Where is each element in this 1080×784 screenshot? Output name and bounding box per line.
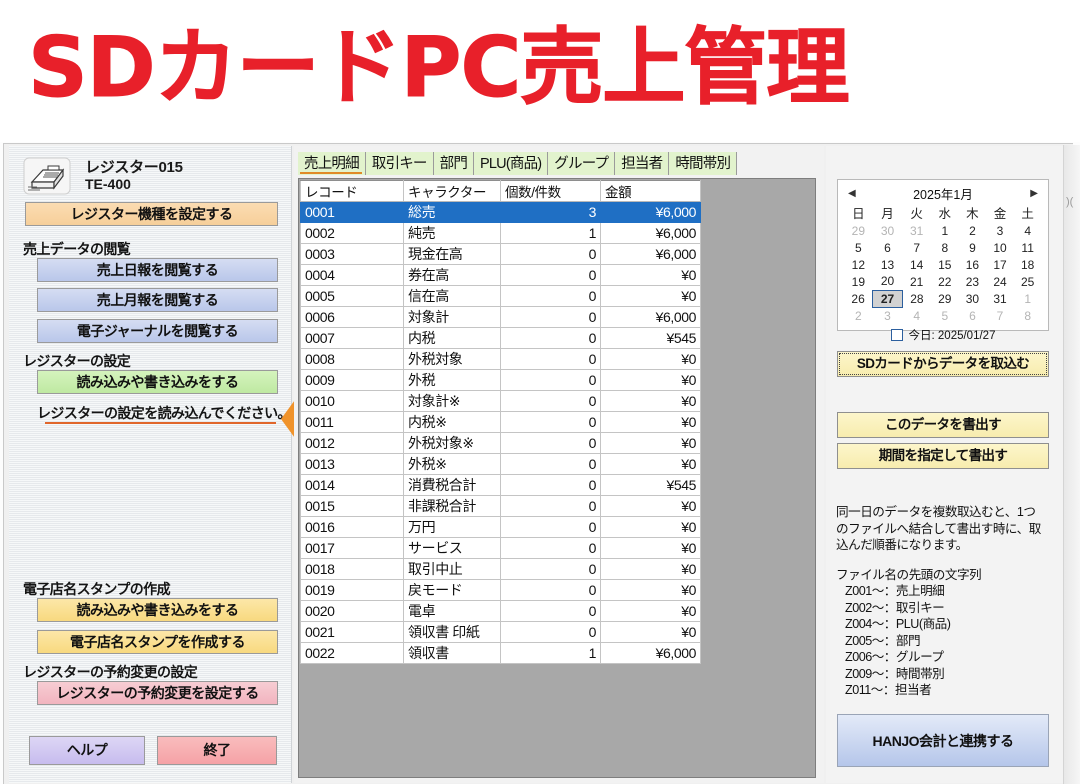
stamp-read-write-button[interactable]: 読み込みや書き込みをする — [37, 598, 278, 622]
calendar-day[interactable]: 18 — [1014, 256, 1042, 273]
calendar-day[interactable]: 22 — [931, 273, 959, 290]
calendar-day[interactable]: 8 — [931, 239, 959, 256]
cash-register-icon — [23, 157, 71, 195]
table-row[interactable]: 0021領収書 印紙0¥0 — [301, 622, 701, 643]
calendar-day[interactable]: 8 — [1014, 307, 1042, 324]
calendar-weekday: 日 — [844, 203, 873, 222]
cell-amount: ¥0 — [601, 265, 701, 286]
calendar-day[interactable]: 7 — [902, 239, 931, 256]
hanjo-link-button[interactable]: HANJO会計と連携する — [837, 714, 1049, 767]
cell-record: 0020 — [301, 601, 404, 622]
cell-character: 非課税合計 — [404, 496, 501, 517]
calendar-day[interactable]: 10 — [986, 239, 1014, 256]
calendar-day[interactable]: 3 — [873, 307, 903, 324]
column-header-record[interactable]: レコード — [301, 181, 404, 202]
cell-count: 0 — [501, 244, 601, 265]
cell-count: 0 — [501, 286, 601, 307]
cell-character: 領収書 印紙 — [404, 622, 501, 643]
tabstrip: 売上明細取引キー部門PLU(商品)グループ担当者時間帯別 — [298, 152, 818, 175]
cell-amount: ¥0 — [601, 391, 701, 412]
cell-amount: ¥0 — [601, 454, 701, 475]
application-root: SDカードPC売上管理 レジスター015 TE-400 レジスター機種を設定する — [0, 0, 1080, 784]
hanjo-link-label: HANJO会計と連携する — [872, 731, 1013, 751]
calendar-day[interactable]: 30 — [873, 222, 903, 239]
table-row[interactable]: 0022領収書1¥6,000 — [301, 643, 701, 664]
calendar-weekday-row: 日月火水木金土 — [844, 203, 1042, 222]
calendar-day[interactable]: 5 — [931, 307, 959, 324]
table-row[interactable]: 0018取引中止0¥0 — [301, 559, 701, 580]
cell-record: 0018 — [301, 559, 404, 580]
cell-record: 0009 — [301, 370, 404, 391]
section-label-reservation: レジスターの予約変更の設定 — [23, 662, 197, 682]
main-panel: 売上明細取引キー部門PLU(商品)グループ担当者時間帯別 レコード キャラクター… — [294, 146, 824, 783]
cell-character: 外税 — [404, 370, 501, 391]
cell-record: 0022 — [301, 643, 404, 664]
cell-amount: ¥545 — [601, 328, 701, 349]
cell-amount: ¥6,000 — [601, 643, 701, 664]
cell-record: 0012 — [301, 433, 404, 454]
cell-count: 0 — [501, 622, 601, 643]
cell-count: 1 — [501, 223, 601, 244]
table-row[interactable]: 0011内税※0¥0 — [301, 412, 701, 433]
calendar-day[interactable]: 26 — [844, 290, 873, 307]
cell-character: 外税※ — [404, 454, 501, 475]
table-row[interactable]: 0012外税対象※0¥0 — [301, 433, 701, 454]
section-label-store-stamp: 電子店名スタンプの作成 — [23, 579, 170, 599]
table-row[interactable]: 0014消費税合計0¥545 — [301, 475, 701, 496]
cell-amount: ¥0 — [601, 370, 701, 391]
calendar-week-row: 19202122232425 — [844, 273, 1042, 290]
tab-0[interactable]: 売上明細 — [298, 152, 366, 175]
cell-count: 0 — [501, 412, 601, 433]
prefix-list: Z001～：売上明細Z002～：取引キーZ004～：PLU(商品)Z005～：部… — [836, 583, 1066, 699]
column-header-character[interactable]: キャラクター — [404, 181, 501, 202]
create-store-stamp-button[interactable]: 電子店名スタンプを作成する — [37, 630, 278, 654]
calendar-day[interactable]: 7 — [986, 307, 1014, 324]
calendar-day[interactable]: 19 — [844, 273, 873, 290]
table-row[interactable]: 0009外税0¥0 — [301, 370, 701, 391]
calendar-week-row: 2345678 — [844, 307, 1042, 324]
calendar-day[interactable]: 15 — [931, 256, 959, 273]
cell-record: 0017 — [301, 538, 404, 559]
cell-count: 0 — [501, 328, 601, 349]
cell-amount: ¥0 — [601, 517, 701, 538]
import-from-sd-card-button[interactable]: SDカードからデータを取込む — [837, 351, 1049, 377]
calendar-day[interactable]: 5 — [844, 239, 873, 256]
cell-record: 0004 — [301, 265, 404, 286]
table-row[interactable]: 0019戻モード0¥0 — [301, 580, 701, 601]
calendar-weekday: 月 — [873, 203, 903, 222]
tab-3[interactable]: PLU(商品) — [474, 152, 548, 175]
cell-amount: ¥6,000 — [601, 244, 701, 265]
tab-1[interactable]: 取引キー — [366, 152, 434, 175]
calendar-today-row[interactable]: 今日: 2025/01/27 — [844, 327, 1042, 343]
calendar-weekday: 火 — [902, 203, 931, 222]
cell-count: 0 — [501, 454, 601, 475]
tab-6[interactable]: 時間帯別 — [669, 152, 737, 175]
cell-record: 0001 — [301, 202, 404, 223]
calendar-day[interactable]: 28 — [902, 290, 931, 307]
calendar-day[interactable]: 31 — [986, 290, 1014, 307]
calendar-day[interactable]: 17 — [986, 256, 1014, 273]
cell-record: 0021 — [301, 622, 404, 643]
calendar-week-row: 2930311234 — [844, 222, 1042, 239]
table-row[interactable]: 0002純売1¥6,000 — [301, 223, 701, 244]
calendar-day[interactable]: 23 — [959, 273, 987, 290]
calendar-day[interactable]: 4 — [1014, 222, 1042, 239]
cell-amount: ¥0 — [601, 286, 701, 307]
app-window: レジスター015 TE-400 レジスター機種を設定する 売上データの閲覧 売上… — [3, 143, 1073, 784]
cell-count: 0 — [501, 496, 601, 517]
cell-record: 0006 — [301, 307, 404, 328]
cell-amount: ¥6,000 — [601, 202, 701, 223]
title-banner: SDカードPC売上管理 — [0, 0, 1080, 142]
cell-amount: ¥0 — [601, 601, 701, 622]
table-row[interactable]: 0005信在高0¥0 — [301, 286, 701, 307]
cell-character: 内税 — [404, 328, 501, 349]
export-by-period-button[interactable]: 期間を指定して書出す — [837, 443, 1049, 469]
calendar-weekday: 土 — [1014, 203, 1042, 222]
cell-amount: ¥0 — [601, 559, 701, 580]
section-label-register-settings: レジスターの設定 — [23, 351, 130, 371]
cell-count: 0 — [501, 391, 601, 412]
cell-count: 0 — [501, 475, 601, 496]
set-register-model-button[interactable]: レジスター機種を設定する — [25, 202, 278, 226]
table-row[interactable]: 0004券在高0¥0 — [301, 265, 701, 286]
calendar-day[interactable]: 1 — [931, 222, 959, 239]
prefix-item: Z004～：PLU(商品) — [836, 616, 1066, 633]
calendar-weekday-header: 日月火水木金土 — [844, 203, 1042, 222]
calendar-grid: 日月火水木金土 29303112345678910111213141516171… — [844, 203, 1042, 324]
cell-record: 0010 — [301, 391, 404, 412]
table-body: 0001総売3¥6,0000002純売1¥6,0000003現金在高0¥6,00… — [301, 202, 701, 664]
calendar-week-row: 12131415161718 — [844, 256, 1042, 273]
table-row[interactable]: 0015非課税合計0¥0 — [301, 496, 701, 517]
cell-count: 0 — [501, 307, 601, 328]
calendar-weekday: 木 — [959, 203, 987, 222]
cell-character: 消費税合計 — [404, 475, 501, 496]
section-label-sales-browse: 売上データの閲覧 — [23, 239, 130, 259]
cell-amount: ¥0 — [601, 538, 701, 559]
cell-character: 外税対象※ — [404, 433, 501, 454]
cell-record: 0007 — [301, 328, 404, 349]
cell-character: 券在高 — [404, 265, 501, 286]
edge-partial-glyph: )( — [1066, 196, 1073, 208]
exit-button[interactable]: 終了 — [157, 736, 277, 765]
calendar-day[interactable]: 4 — [902, 307, 931, 324]
cell-character: 万円 — [404, 517, 501, 538]
table-header: レコード キャラクター 個数/件数 金額 — [301, 181, 701, 202]
calendar-day[interactable]: 21 — [902, 273, 931, 290]
cell-amount: ¥0 — [601, 349, 701, 370]
prefix-heading: ファイル名の先頭の文字列 — [836, 567, 1066, 584]
calendar-day[interactable]: 3 — [986, 222, 1014, 239]
cell-count: 0 — [501, 559, 601, 580]
cell-character: 現金在高 — [404, 244, 501, 265]
tab-2[interactable]: 部門 — [434, 152, 474, 175]
cell-count: 0 — [501, 265, 601, 286]
cell-character: 外税対象 — [404, 349, 501, 370]
cell-count: 0 — [501, 433, 601, 454]
calendar-week-row: 567891011 — [844, 239, 1042, 256]
cell-record: 0019 — [301, 580, 404, 601]
sales-detail-table: レコード キャラクター 個数/件数 金額 0001総売3¥6,0000002純売… — [300, 180, 701, 664]
cell-record: 0013 — [301, 454, 404, 475]
prefix-item: Z005～：部門 — [836, 633, 1066, 650]
calendar-prev-month-icon[interactable]: ◀ — [844, 188, 860, 199]
help-button[interactable]: ヘルプ — [29, 736, 145, 765]
cell-character: 対象計 — [404, 307, 501, 328]
calendar-day[interactable]: 2 — [844, 307, 873, 324]
calendar-day[interactable]: 9 — [959, 239, 987, 256]
cell-character: 内税※ — [404, 412, 501, 433]
cell-amount: ¥0 — [601, 412, 701, 433]
calendar-day[interactable]: 31 — [902, 222, 931, 239]
view-electronic-journal-button[interactable]: 電子ジャーナルを閲覧する — [37, 319, 278, 343]
register-name: レジスター015 — [85, 156, 183, 177]
note-line-2: のファイルへ結合して書出す時に、取 — [836, 521, 1066, 538]
tab-5[interactable]: 担当者 — [615, 152, 669, 175]
cell-record: 0015 — [301, 496, 404, 517]
right-panel: ◀ 2025年1月 ▶ 日月火水木金土 29303112345678910111… — [826, 146, 1074, 783]
table-row[interactable]: 0017サービス0¥0 — [301, 538, 701, 559]
cell-count: 3 — [501, 202, 601, 223]
calendar-next-month-icon[interactable]: ▶ — [1026, 188, 1042, 199]
calendar-day-selected[interactable]: 27 — [873, 290, 903, 307]
calendar-weekday: 金 — [986, 203, 1014, 222]
cell-record: 0003 — [301, 244, 404, 265]
cell-record: 0005 — [301, 286, 404, 307]
prefix-item: Z001～：売上明細 — [836, 583, 1066, 600]
date-picker-calendar[interactable]: ◀ 2025年1月 ▶ 日月火水木金土 29303112345678910111… — [837, 179, 1049, 331]
cell-amount: ¥0 — [601, 622, 701, 643]
calendar-day[interactable]: 12 — [844, 256, 873, 273]
table-row[interactable]: 0010対象計※0¥0 — [301, 391, 701, 412]
calendar-header: ◀ 2025年1月 ▶ — [844, 184, 1042, 202]
calendar-day[interactable]: 30 — [959, 290, 987, 307]
cell-amount: ¥6,000 — [601, 223, 701, 244]
table-row[interactable]: 0003現金在高0¥6,000 — [301, 244, 701, 265]
calendar-day[interactable]: 24 — [986, 273, 1014, 290]
table-row[interactable]: 0016万円0¥0 — [301, 517, 701, 538]
cell-count: 0 — [501, 517, 601, 538]
calendar-day[interactable]: 2 — [959, 222, 987, 239]
cell-character: 電卓 — [404, 601, 501, 622]
cell-character: 純売 — [404, 223, 501, 244]
cell-count: 0 — [501, 349, 601, 370]
cell-character: 戻モード — [404, 580, 501, 601]
today-checkbox[interactable] — [891, 329, 903, 341]
cell-amount: ¥0 — [601, 496, 701, 517]
calendar-title: 2025年1月 — [913, 184, 973, 203]
prefix-item: Z002～：取引キー — [836, 600, 1066, 617]
register-read-write-button[interactable]: 読み込みや書き込みをする — [37, 370, 278, 394]
register-header: レジスター015 TE-400 — [23, 156, 283, 198]
cell-count: 0 — [501, 370, 601, 391]
cell-amount: ¥545 — [601, 475, 701, 496]
column-header-count[interactable]: 個数/件数 — [501, 181, 601, 202]
cell-count: 0 — [501, 601, 601, 622]
calendar-weekday: 水 — [931, 203, 959, 222]
calendar-day[interactable]: 16 — [959, 256, 987, 273]
set-reservation-change-button[interactable]: レジスターの予約変更を設定する — [37, 681, 278, 705]
prefix-item: Z011～：担当者 — [836, 682, 1066, 699]
calendar-day[interactable]: 14 — [902, 256, 931, 273]
calendar-day[interactable]: 29 — [844, 222, 873, 239]
table-row[interactable]: 0013外税※0¥0 — [301, 454, 701, 475]
table-header-row: レコード キャラクター 個数/件数 金額 — [301, 181, 701, 202]
cell-character: 対象計※ — [404, 391, 501, 412]
cell-character: 取引中止 — [404, 559, 501, 580]
cell-amount: ¥0 — [601, 433, 701, 454]
calendar-day[interactable]: 11 — [1014, 239, 1042, 256]
cell-character: 信在高 — [404, 286, 501, 307]
register-settings-note: レジスターの設定を読み込んでください。 — [37, 403, 291, 423]
note-line-3: 込んだ順番になります。 — [836, 537, 1066, 554]
calendar-day[interactable]: 20 — [873, 273, 903, 290]
cell-amount: ¥0 — [601, 580, 701, 601]
tab-4[interactable]: グループ — [548, 152, 615, 175]
cell-count: 0 — [501, 580, 601, 601]
table-row[interactable]: 0006対象計0¥6,000 — [301, 307, 701, 328]
sidebar: レジスター015 TE-400 レジスター機種を設定する 売上データの閲覧 売上… — [9, 146, 292, 783]
calendar-day[interactable]: 25 — [1014, 273, 1042, 290]
cell-record: 0014 — [301, 475, 404, 496]
cell-character: 領収書 — [404, 643, 501, 664]
cell-character: 総売 — [404, 202, 501, 223]
note-line-1: 同一日のデータを複数取込むと、1つ — [836, 504, 1066, 521]
export-this-data-button[interactable]: このデータを書出す — [837, 412, 1049, 438]
view-daily-report-button[interactable]: 売上日報を閲覧する — [37, 258, 278, 282]
cell-record: 0016 — [301, 517, 404, 538]
cell-record: 0002 — [301, 223, 404, 244]
column-header-amount[interactable]: 金額 — [601, 181, 701, 202]
cell-amount: ¥6,000 — [601, 307, 701, 328]
cell-count: 0 — [501, 538, 601, 559]
table-row[interactable]: 0007内税0¥545 — [301, 328, 701, 349]
cell-character: サービス — [404, 538, 501, 559]
calendar-day[interactable]: 1 — [1014, 290, 1042, 307]
table-row[interactable]: 0020電卓0¥0 — [301, 601, 701, 622]
calendar-day[interactable]: 6 — [959, 307, 987, 324]
calendar-week-row: 2627282930311 — [844, 290, 1042, 307]
calendar-day[interactable]: 13 — [873, 256, 903, 273]
table-row[interactable]: 0008外税対象0¥0 — [301, 349, 701, 370]
cell-count: 1 — [501, 643, 601, 664]
prefix-item: Z009～：時間帯別 — [836, 666, 1066, 683]
cell-record: 0008 — [301, 349, 404, 370]
today-label: 今日: 2025/01/27 — [909, 327, 996, 343]
register-model: TE-400 — [85, 176, 131, 192]
table-row[interactable]: 0001総売3¥6,000 — [301, 202, 701, 223]
view-monthly-report-button[interactable]: 売上月報を閲覧する — [37, 288, 278, 312]
calendar-days: 2930311234567891011121314151617181920212… — [844, 222, 1042, 324]
prefix-item: Z006～：グループ — [836, 649, 1066, 666]
calendar-day[interactable]: 29 — [931, 290, 959, 307]
window-right-edge-sliver — [1063, 145, 1080, 784]
page-title: SDカードPC売上管理 — [28, 14, 848, 122]
cell-record: 0011 — [301, 412, 404, 433]
calendar-day[interactable]: 6 — [873, 239, 903, 256]
export-note-text: 同一日のデータを複数取込むと、1つ のファイルへ結合して書出す時に、取 込んだ順… — [836, 504, 1066, 699]
data-grid-container[interactable]: レコード キャラクター 個数/件数 金額 0001総売3¥6,0000002純売… — [298, 178, 816, 778]
